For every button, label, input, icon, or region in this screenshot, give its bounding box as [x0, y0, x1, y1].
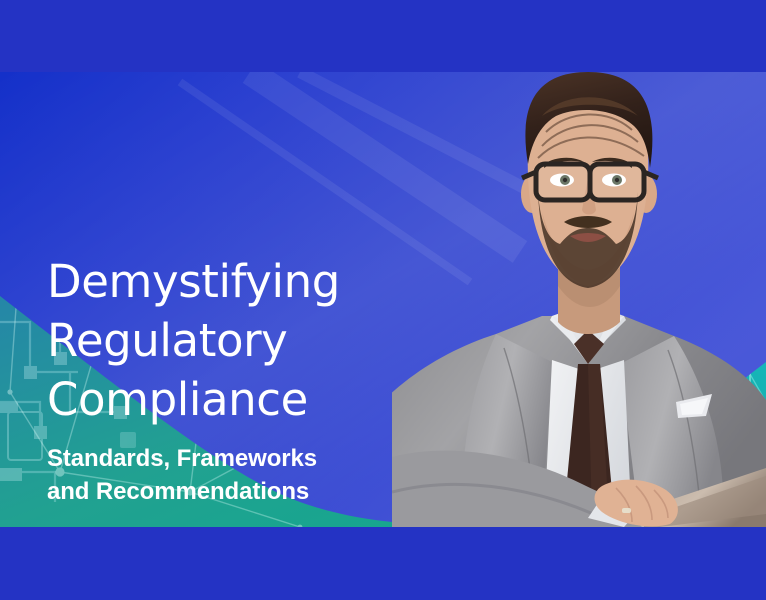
title-line-2: Regulatory: [47, 311, 387, 370]
copy-block: Demystifying Regulatory Compliance Stand…: [47, 252, 387, 508]
page-subtitle: Standards, Frameworks and Recommendation…: [47, 442, 387, 508]
page-title: Demystifying Regulatory Compliance: [47, 252, 387, 429]
subtitle-line-1: Standards, Frameworks: [47, 442, 387, 475]
eyeglasses-icon: [522, 164, 658, 200]
banner-root: Demystifying Regulatory Compliance Stand…: [0, 0, 766, 600]
artwork-stage: Demystifying Regulatory Compliance Stand…: [0, 72, 766, 527]
top-brand-band: [0, 0, 766, 72]
subtitle-line-2: and Recommendations: [47, 475, 387, 508]
title-line-3: Compliance: [47, 370, 387, 429]
bottom-brand-band: [0, 527, 766, 600]
title-line-1: Demystifying: [47, 252, 387, 311]
businessman-photo: [392, 72, 766, 527]
